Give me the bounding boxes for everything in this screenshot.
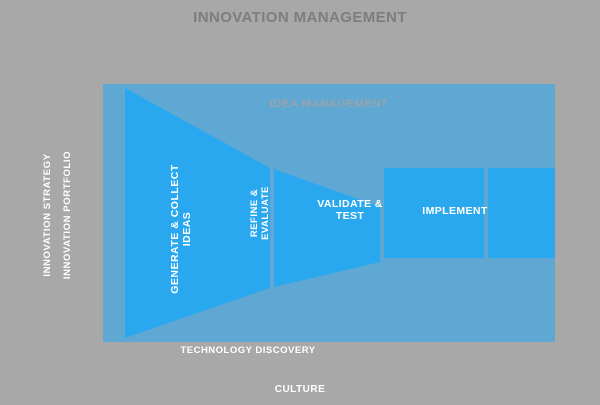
footer-label-technology-discovery: TECHNOLOGY DISCOVERY <box>103 345 393 356</box>
funnel-shapes <box>103 84 555 342</box>
footer-label-culture: CULTURE <box>0 384 600 395</box>
innovation-management-diagram: INNOVATION MANAGEMENT INNOVATION STRATEG… <box>0 0 600 405</box>
idea-management-panel: IDEA MANAGEMENT GENERATE & COLLECT IDEAS… <box>103 84 555 342</box>
axis-label-innovation-strategy: INNOVATION STRATEGY <box>41 115 55 315</box>
funnel-stage-3-shape[interactable] <box>384 168 484 258</box>
funnel-stage-1-shape[interactable] <box>125 88 270 338</box>
page-title: INNOVATION MANAGEMENT <box>0 9 600 26</box>
funnel-stage-4-shape[interactable] <box>488 168 555 258</box>
axis-label-innovation-portfolio: INNOVATION PORTFOLIO <box>61 115 75 315</box>
funnel-stage-2-shape[interactable] <box>274 169 380 287</box>
